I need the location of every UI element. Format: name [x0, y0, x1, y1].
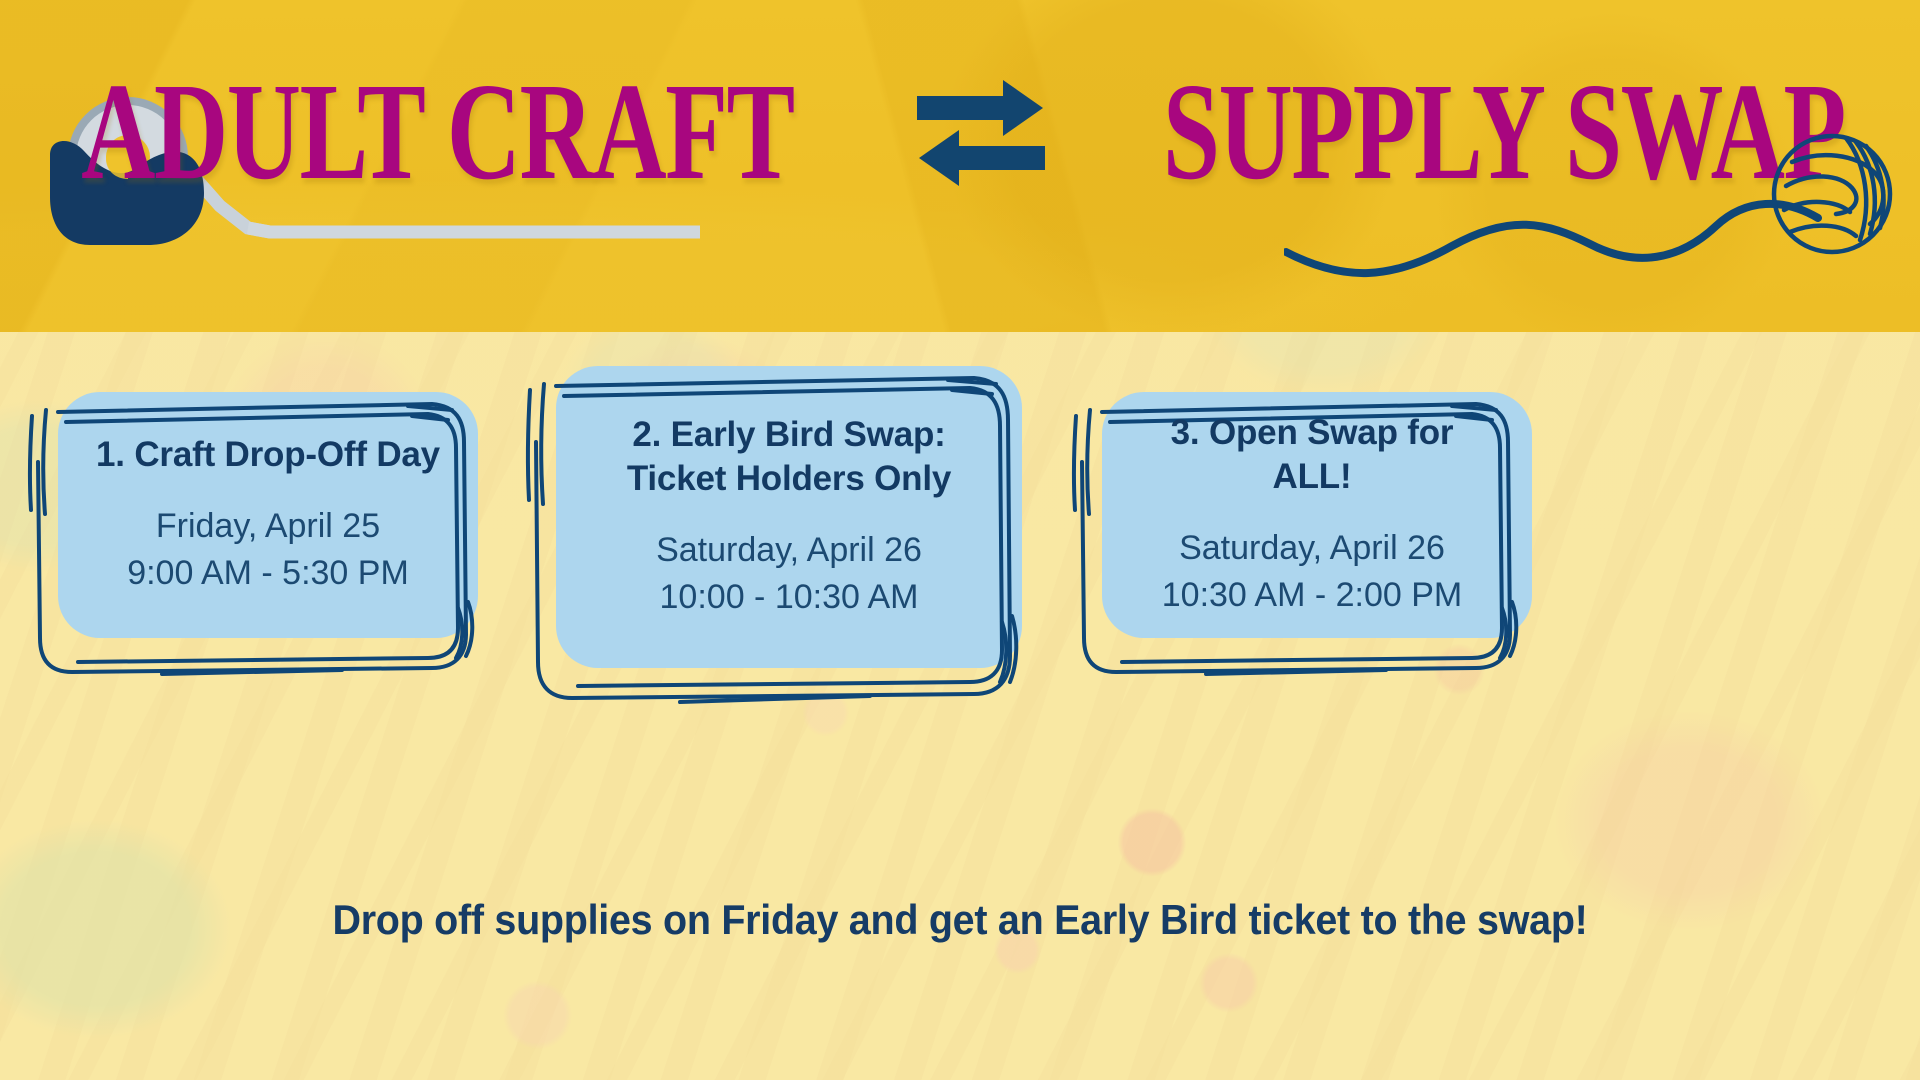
two-way-swap-arrows-icon: [915, 74, 1047, 192]
card-date: Saturday, April 26: [656, 527, 922, 574]
yarn-strand-squiggle-icon: [1284, 196, 1824, 296]
card-time: 10:30 AM - 2:00 PM: [1162, 572, 1463, 619]
yarn-ball-icon: [1770, 128, 1898, 258]
title-part-1: ADULT CRAFT: [81, 69, 793, 197]
poster-canvas: ADULT CRAFT SUPPLY SWAP: [0, 0, 1920, 1080]
event-card-1[interactable]: 1. Craft Drop-Off Day Friday, April 25 9…: [58, 392, 478, 638]
card-title-line: Ticket Holders Only: [627, 457, 951, 501]
card-date: Friday, April 25: [156, 503, 380, 550]
card-date: Saturday, April 26: [1179, 525, 1445, 572]
card-time: 10:00 - 10:30 AM: [660, 574, 919, 621]
card-title: 3. Open Swap for ALL!: [1128, 411, 1496, 499]
poster-title: ADULT CRAFT SUPPLY SWAP: [0, 58, 1920, 208]
card-content: 2. Early Bird Swap: Ticket Holders Only …: [556, 366, 1022, 668]
card-time: 9:00 AM - 5:30 PM: [127, 550, 409, 597]
event-card-2[interactable]: 2. Early Bird Swap: Ticket Holders Only …: [556, 366, 1022, 668]
title-part-2: SUPPLY SWAP: [1162, 69, 1844, 197]
event-card-3[interactable]: 3. Open Swap for ALL! Saturday, April 26…: [1102, 392, 1522, 638]
card-title-line: 2. Early Bird Swap:: [627, 413, 951, 457]
card-title: 1. Craft Drop-Off Day: [96, 433, 440, 477]
card-title-line: 3. Open Swap for ALL!: [1128, 411, 1496, 499]
card-content: 1. Craft Drop-Off Day Friday, April 25 9…: [58, 392, 478, 638]
card-title: 2. Early Bird Swap: Ticket Holders Only: [627, 413, 951, 501]
header-band: ADULT CRAFT SUPPLY SWAP: [0, 0, 1920, 332]
bottom-caption: Drop off supplies on Friday and get an E…: [58, 896, 1863, 944]
card-content: 3. Open Swap for ALL! Saturday, April 26…: [1102, 392, 1522, 638]
card-title-line: 1. Craft Drop-Off Day: [96, 433, 440, 477]
